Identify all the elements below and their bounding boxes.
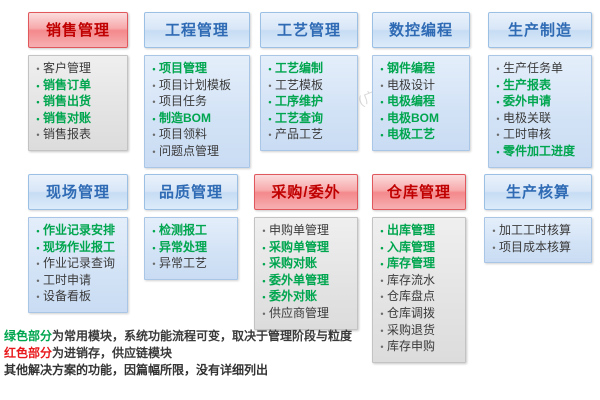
module-header[interactable]: 生产核算 [484, 174, 592, 210]
bullet-icon: • [377, 290, 387, 306]
module-item-label: 仓库盘点 [387, 289, 435, 305]
module-item-label: 零件加工进度 [503, 144, 575, 160]
module-item-label: 加工工时核算 [499, 223, 571, 239]
module-item-label: 工序维护 [275, 94, 323, 110]
bullet-icon: • [33, 290, 43, 306]
module-item-label: 委外对账 [269, 289, 317, 305]
module-item[interactable]: •库存管理 [377, 256, 459, 273]
module-item-label: 制造BOM [159, 111, 211, 127]
bullet-icon: • [149, 112, 159, 128]
bullet-icon: • [493, 62, 503, 78]
module-items: •加工工时核算•项目成本核算 [489, 223, 585, 256]
module-items: •项目管理•项目计划模板•项目任务•制造BOM•项目领料•问题点管理 [149, 61, 243, 161]
module-item-label: 采购对账 [269, 256, 317, 272]
legend-line-red: 红色部分为进销存，供应链模块 [4, 345, 352, 362]
module-item-list: •检测报工•异常处理•异常工艺 [144, 217, 238, 280]
bullet-icon: • [33, 62, 43, 78]
module-item-label: 销售订单 [43, 78, 91, 94]
module-column: 生产核算•加工工时核算•项目成本核算 [484, 174, 592, 263]
module-item[interactable]: •委外单管理 [259, 273, 351, 290]
module-item[interactable]: •项目领料 [149, 127, 243, 144]
module-header[interactable]: 销售管理 [28, 12, 128, 48]
legend-red-rest: 为进销存，供应链模块 [52, 346, 172, 360]
bullet-icon: • [265, 62, 275, 78]
module-item[interactable]: •钢件编程 [377, 61, 463, 78]
module-item[interactable]: •入库管理 [377, 240, 459, 257]
module-item[interactable]: •销售订单 [33, 78, 121, 95]
module-item-list: •项目管理•项目计划模板•项目任务•制造BOM•项目领料•问题点管理 [144, 55, 250, 168]
bullet-icon: • [493, 128, 503, 144]
bullet-icon: • [377, 112, 387, 128]
module-item[interactable]: •工时申请 [33, 273, 121, 290]
bullet-icon: • [33, 79, 43, 95]
module-item[interactable]: •制造BOM [149, 111, 243, 128]
module-item[interactable]: •生产报表 [493, 78, 585, 95]
module-item[interactable]: •项目管理 [149, 61, 243, 78]
bullet-icon: • [493, 145, 503, 161]
module-item[interactable]: •加工工时核算 [489, 223, 585, 240]
bullet-icon: • [33, 274, 43, 290]
module-item[interactable]: •零件加工进度 [493, 144, 585, 161]
bullet-icon: • [33, 128, 43, 144]
module-item-label: 生产报表 [503, 78, 551, 94]
module-item[interactable]: •供应商管理 [259, 306, 351, 323]
module-item[interactable]: •仓库盘点 [377, 289, 459, 306]
bullet-icon: • [493, 112, 503, 128]
module-item-label: 入库管理 [387, 240, 435, 256]
bullet-icon: • [377, 95, 387, 111]
bullet-icon: • [377, 241, 387, 257]
module-item-label: 现场作业报工 [43, 240, 115, 256]
module-item-list: •出库管理•入库管理•库存管理•库存流水•仓库盘点•仓库调拨•采购退货•库存申购 [372, 217, 466, 363]
module-item-label: 仓库调拨 [387, 306, 435, 322]
module-column: 工程管理•项目管理•项目计划模板•项目任务•制造BOM•项目领料•问题点管理 [144, 12, 250, 168]
module-item-label: 电极关联 [503, 111, 551, 127]
module-item-label: 问题点管理 [159, 144, 219, 160]
module-item-list: •客户管理•销售订单•销售出货•销售对账•销售报表 [28, 55, 128, 151]
module-item-label: 生产任务单 [503, 61, 563, 77]
module-item[interactable]: •申购单管理 [259, 223, 351, 240]
module-item-list: •工艺编制•工艺模板•工序维护•工艺查询•产品工艺 [260, 55, 358, 151]
module-item[interactable]: •设备看板 [33, 289, 121, 306]
module-items: •工艺编制•工艺模板•工序维护•工艺查询•产品工艺 [265, 61, 351, 144]
module-item[interactable]: •客户管理 [33, 61, 121, 78]
module-item[interactable]: •采购退货 [377, 323, 459, 340]
module-item-label: 库存管理 [387, 256, 435, 272]
module-item[interactable]: •仓库调拨 [377, 306, 459, 323]
module-item-label: 项目计划模板 [159, 78, 231, 94]
module-items: •申购单管理•采购单管理•采购对账•委外单管理•委外对账•供应商管理 [259, 223, 351, 323]
module-item-label: 委外申请 [503, 94, 551, 110]
module-item[interactable]: •电极设计 [377, 78, 463, 95]
module-column: 生产制造•生产任务单•生产报表•委外申请•电极关联•工时审核•零件加工进度 [488, 12, 592, 168]
module-item[interactable]: •电极BOM [377, 111, 463, 128]
bullet-icon: • [489, 224, 499, 240]
module-item[interactable]: •项目任务 [149, 94, 243, 111]
module-item[interactable]: •检测报工 [149, 223, 231, 240]
module-item-label: 出库管理 [387, 223, 435, 239]
bullet-icon: • [33, 257, 43, 273]
module-item[interactable]: •委外对账 [259, 289, 351, 306]
bullet-icon: • [33, 224, 43, 240]
module-item[interactable]: •项目成本核算 [489, 240, 585, 257]
module-item[interactable]: •生产任务单 [493, 61, 585, 78]
bullet-icon: • [493, 79, 503, 95]
module-item-label: 异常处理 [159, 240, 207, 256]
bullet-icon: • [259, 241, 269, 257]
module-item-label: 产品工艺 [275, 127, 323, 143]
legend-red-key: 红色部分 [4, 346, 52, 360]
module-item[interactable]: •销售报表 [33, 127, 121, 144]
module-item[interactable]: •作业记录安排 [33, 223, 121, 240]
module-items: •检测报工•异常处理•异常工艺 [149, 223, 231, 273]
module-item-label: 钢件编程 [387, 61, 435, 77]
module-item[interactable]: •电极关联 [493, 111, 585, 128]
module-item-label: 检测报工 [159, 223, 207, 239]
module-item-label: 项目成本核算 [499, 240, 571, 256]
module-items: •作业记录安排•现场作业报工•作业记录查询•工时申请•设备看板 [33, 223, 121, 306]
bullet-icon: • [33, 95, 43, 111]
module-item-label: 项目管理 [159, 61, 207, 77]
bullet-icon: • [259, 224, 269, 240]
module-item[interactable]: •现场作业报工 [33, 240, 121, 257]
bullet-icon: • [149, 79, 159, 95]
bullet-icon: • [149, 241, 159, 257]
legend-line-note: 其他解决方案的功能，因篇幅所限，没有详细列出 [4, 362, 352, 379]
bullet-icon: • [377, 307, 387, 323]
module-item[interactable]: •项目计划模板 [149, 78, 243, 95]
bullet-icon: • [149, 128, 159, 144]
module-item-list: •申购单管理•采购单管理•采购对账•委外单管理•委外对账•供应商管理 [254, 217, 358, 330]
module-items: •钢件编程•电极设计•电极编程•电极BOM•电极工艺 [377, 61, 463, 144]
module-item[interactable]: •产品工艺 [265, 127, 351, 144]
module-item-list: •作业记录安排•现场作业报工•作业记录查询•工时申请•设备看板 [28, 217, 128, 313]
bullet-icon: • [377, 128, 387, 144]
module-item[interactable]: •工艺模板 [265, 78, 351, 95]
module-item-label: 项目任务 [159, 94, 207, 110]
module-item[interactable]: •委外申请 [493, 94, 585, 111]
module-item-label: 作业记录安排 [43, 223, 115, 239]
module-item-label: 采购退货 [387, 323, 435, 339]
module-item-list: •加工工时核算•项目成本核算 [484, 217, 592, 263]
module-item-label: 工艺查询 [275, 111, 323, 127]
module-items: •生产任务单•生产报表•委外申请•电极关联•工时审核•零件加工进度 [493, 61, 585, 161]
module-item[interactable]: •库存申购 [377, 339, 459, 356]
bullet-icon: • [265, 112, 275, 128]
module-header[interactable]: 工程管理 [144, 12, 250, 48]
bullet-icon: • [33, 112, 43, 128]
module-item-label: 电极编程 [387, 94, 435, 110]
module-header[interactable]: 生产制造 [488, 12, 592, 48]
legend-line-green: 绿色部分为常用模块，系统功能流程可变，取决于管理阶段与粒度 [4, 328, 352, 345]
bullet-icon: • [259, 290, 269, 306]
module-item[interactable]: •问题点管理 [149, 144, 243, 161]
module-items: •客户管理•销售订单•销售出货•销售对账•销售报表 [33, 61, 121, 144]
bullet-icon: • [259, 274, 269, 290]
module-item-label: 异常工艺 [159, 256, 207, 272]
bullet-icon: • [259, 307, 269, 323]
module-item-label: 销售报表 [43, 127, 91, 143]
module-column: 仓库管理•出库管理•入库管理•库存管理•库存流水•仓库盘点•仓库调拨•采购退货•… [372, 174, 466, 363]
module-item[interactable]: •工艺编制 [265, 61, 351, 78]
bullet-icon: • [149, 62, 159, 78]
module-item[interactable]: •工序维护 [265, 94, 351, 111]
module-column: 工艺管理•工艺编制•工艺模板•工序维护•工艺查询•产品工艺 [260, 12, 358, 151]
bullet-icon: • [149, 224, 159, 240]
module-item-label: 电极工艺 [387, 127, 435, 143]
module-item-label: 设备看板 [43, 289, 91, 305]
module-header[interactable]: 现场管理 [28, 174, 128, 210]
module-item[interactable]: •销售对账 [33, 111, 121, 128]
module-item-label: 申购单管理 [269, 223, 329, 239]
module-item[interactable]: •电极工艺 [377, 127, 463, 144]
module-item-label: 委外单管理 [269, 273, 329, 289]
module-item[interactable]: •库存流水 [377, 273, 459, 290]
module-item-label: 库存流水 [387, 273, 435, 289]
bullet-icon: • [377, 257, 387, 273]
module-item-label: 客户管理 [43, 61, 91, 77]
module-item-label: 工艺编制 [275, 61, 323, 77]
module-item-label: 工艺模板 [275, 78, 323, 94]
bullet-icon: • [265, 128, 275, 144]
module-column: 现场管理•作业记录安排•现场作业报工•作业记录查询•工时申请•设备看板 [28, 174, 128, 313]
module-item-label: 项目领料 [159, 127, 207, 143]
bullet-icon: • [149, 95, 159, 111]
module-item[interactable]: •电极编程 [377, 94, 463, 111]
module-column: 采购/委外•申购单管理•采购单管理•采购对账•委外单管理•委外对账•供应商管理 [254, 174, 358, 330]
bullet-icon: • [265, 95, 275, 111]
module-item[interactable]: •采购对账 [259, 256, 351, 273]
bullet-icon: • [265, 79, 275, 95]
module-item-list: •生产任务单•生产报表•委外申请•电极关联•工时审核•零件加工进度 [488, 55, 592, 168]
module-item[interactable]: •出库管理 [377, 223, 459, 240]
module-column: 品质管理•检测报工•异常处理•异常工艺 [144, 174, 238, 280]
module-item[interactable]: •采购单管理 [259, 240, 351, 257]
module-item[interactable]: •销售出货 [33, 94, 121, 111]
bullet-icon: • [493, 95, 503, 111]
module-item[interactable]: •异常处理 [149, 240, 231, 257]
module-column: 销售管理•客户管理•销售订单•销售出货•销售对账•销售报表 [28, 12, 128, 151]
bullet-icon: • [377, 62, 387, 78]
bullet-icon: • [489, 241, 499, 257]
module-item-label: 电极BOM [387, 111, 439, 127]
bullet-icon: • [377, 224, 387, 240]
module-item[interactable]: •作业记录查询 [33, 256, 121, 273]
bullet-icon: • [377, 324, 387, 340]
module-column: 数控编程•钢件编程•电极设计•电极编程•电极BOM•电极工艺 [372, 12, 470, 151]
module-item-label: 作业记录查询 [43, 256, 115, 272]
module-header[interactable]: 工艺管理 [260, 12, 358, 48]
bullet-icon: • [149, 145, 159, 161]
module-header[interactable]: 仓库管理 [372, 174, 466, 210]
module-item-list: •钢件编程•电极设计•电极编程•电极BOM•电极工艺 [372, 55, 470, 151]
legend: 绿色部分为常用模块，系统功能流程可变，取决于管理阶段与粒度 红色部分为进销存，供… [4, 328, 352, 379]
module-item-label: 库存申购 [387, 339, 435, 355]
bullet-icon: • [377, 340, 387, 356]
module-header[interactable]: 品质管理 [144, 174, 238, 210]
module-items: •出库管理•入库管理•库存管理•库存流水•仓库盘点•仓库调拨•采购退货•库存申购 [377, 223, 459, 356]
module-item-label: 采购单管理 [269, 240, 329, 256]
module-item[interactable]: •工时审核 [493, 127, 585, 144]
legend-green-rest: 为常用模块，系统功能流程可变，取决于管理阶段与粒度 [52, 329, 352, 343]
module-header[interactable]: 数控编程 [372, 12, 470, 48]
module-item-label: 销售出货 [43, 94, 91, 110]
module-item-label: 电极设计 [387, 78, 435, 94]
module-map-diagram: 云易云软件(广州) 销售管理•客户管理•销售订单•销售出货•销售对账•销售报表工… [0, 0, 600, 400]
bullet-icon: • [377, 274, 387, 290]
module-header[interactable]: 采购/委外 [254, 174, 358, 210]
module-item-label: 供应商管理 [269, 306, 329, 322]
module-item-label: 销售对账 [43, 111, 91, 127]
module-item[interactable]: •异常工艺 [149, 256, 231, 273]
bullet-icon: • [259, 257, 269, 273]
legend-green-key: 绿色部分 [4, 329, 52, 343]
bullet-icon: • [149, 257, 159, 273]
bullet-icon: • [377, 79, 387, 95]
module-item-label: 工时申请 [43, 273, 91, 289]
bullet-icon: • [33, 241, 43, 257]
module-item[interactable]: •工艺查询 [265, 111, 351, 128]
module-item-label: 工时审核 [503, 127, 551, 143]
